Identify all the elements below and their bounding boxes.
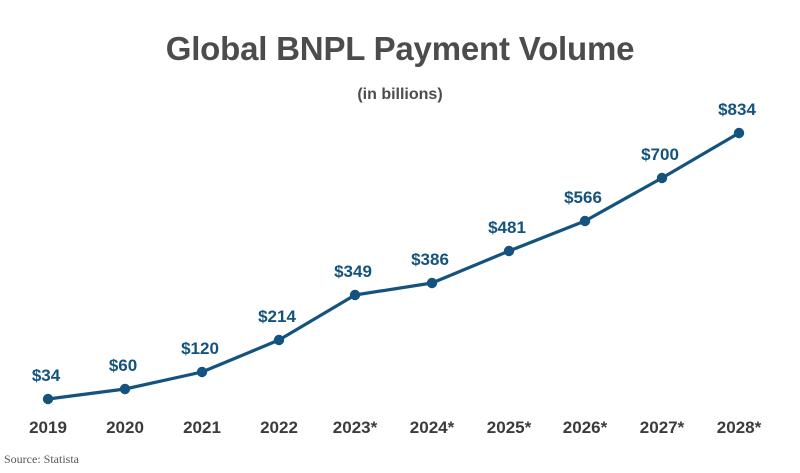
data-point-marker xyxy=(504,246,514,256)
data-point-label: $349 xyxy=(334,262,372,282)
data-point-marker xyxy=(120,384,130,394)
series-line-global-bnpl-payment-volume xyxy=(48,133,739,399)
data-point-label: $120 xyxy=(181,339,219,359)
x-axis-tick-label: 2020 xyxy=(106,418,144,438)
chart-container: Global BNPL Payment Volume (in billions)… xyxy=(0,0,800,473)
source-note: Source: Statista xyxy=(4,452,79,467)
data-point-marker xyxy=(197,367,207,377)
data-point-marker xyxy=(427,278,437,288)
data-point-marker xyxy=(734,128,744,138)
x-axis-tick-label: 2025* xyxy=(487,418,531,438)
data-point-label: $700 xyxy=(641,145,679,165)
data-point-label: $566 xyxy=(564,188,602,208)
x-axis-tick-label: 2019 xyxy=(29,418,67,438)
chart-title: Global BNPL Payment Volume xyxy=(0,30,800,68)
data-point-label: $60 xyxy=(109,356,137,376)
x-axis-tick-label: 2023* xyxy=(333,418,377,438)
data-point-label: $481 xyxy=(488,218,526,238)
x-axis-tick-label: 2024* xyxy=(410,418,454,438)
data-point-label: $834 xyxy=(718,100,756,120)
x-axis-tick-label: 2028* xyxy=(717,418,761,438)
x-axis-tick-label: 2027* xyxy=(640,418,684,438)
data-point-marker xyxy=(350,290,360,300)
x-axis-tick-label: 2022 xyxy=(260,418,298,438)
chart-subtitle: (in billions) xyxy=(0,86,800,104)
data-point-marker xyxy=(580,216,590,226)
x-axis-tick-label: 2021 xyxy=(183,418,221,438)
data-point-marker xyxy=(274,335,284,345)
data-point-label: $214 xyxy=(258,307,296,327)
data-point-label: $386 xyxy=(411,250,449,270)
plot-area xyxy=(0,0,800,473)
x-axis-tick-label: 2026* xyxy=(563,418,607,438)
data-point-marker xyxy=(43,394,53,404)
series-markers xyxy=(43,128,744,404)
line-chart-svg xyxy=(0,0,800,473)
data-point-marker xyxy=(657,173,667,183)
data-point-label: $34 xyxy=(32,366,60,386)
